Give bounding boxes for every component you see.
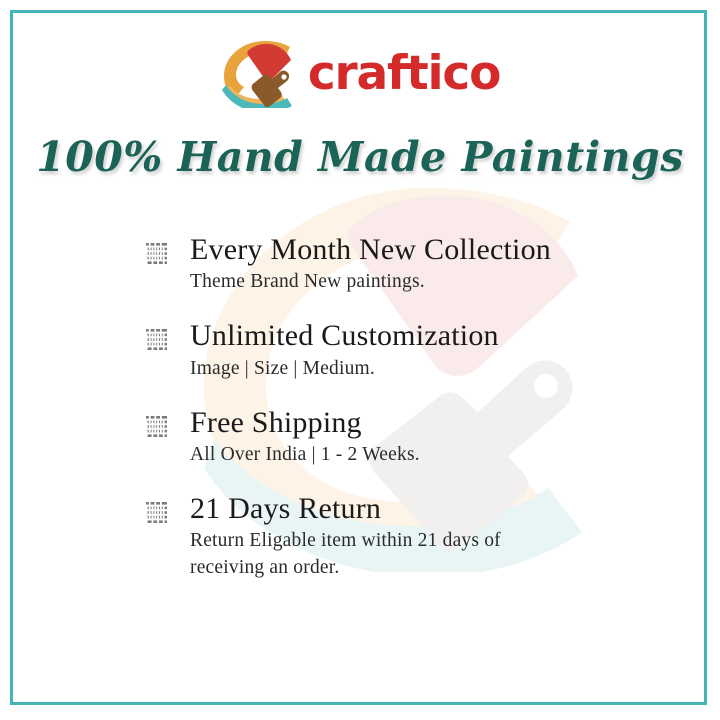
feature-subtitle: Theme Brand New paintings. xyxy=(190,269,580,296)
feature-title: 21 Days Return xyxy=(190,491,626,526)
brand-logo: craftico xyxy=(0,34,720,112)
woven-mesh-square-icon xyxy=(146,329,167,350)
list-item: Every Month New Collection Theme Brand N… xyxy=(146,232,626,296)
feature-list: Every Month New Collection Theme Brand N… xyxy=(146,232,626,582)
woven-mesh-square-icon xyxy=(146,243,167,264)
list-item: Unlimited Customization Image | Size | M… xyxy=(146,318,626,382)
craftico-c-paintbrush-logo-icon xyxy=(220,38,294,108)
woven-mesh-square-icon xyxy=(146,416,167,437)
brand-wordmark: craftico xyxy=(308,50,500,97)
list-item: Free Shipping All Over India | 1 - 2 Wee… xyxy=(146,405,626,469)
feature-subtitle: Return Eligable item within 21 days of r… xyxy=(190,528,580,582)
feature-subtitle: Image | Size | Medium. xyxy=(190,356,580,383)
feature-title: Every Month New Collection xyxy=(190,232,626,267)
promo-banner: craftico 100% Hand Made Paintings xyxy=(0,0,720,720)
feature-title: Unlimited Customization xyxy=(190,318,626,353)
woven-mesh-square-icon xyxy=(146,502,167,523)
list-item: 21 Days Return Return Eligable item with… xyxy=(146,491,626,582)
page-title: 100% Hand Made Paintings xyxy=(0,133,720,181)
feature-subtitle: All Over India | 1 - 2 Weeks. xyxy=(190,442,580,469)
feature-title: Free Shipping xyxy=(190,405,626,440)
